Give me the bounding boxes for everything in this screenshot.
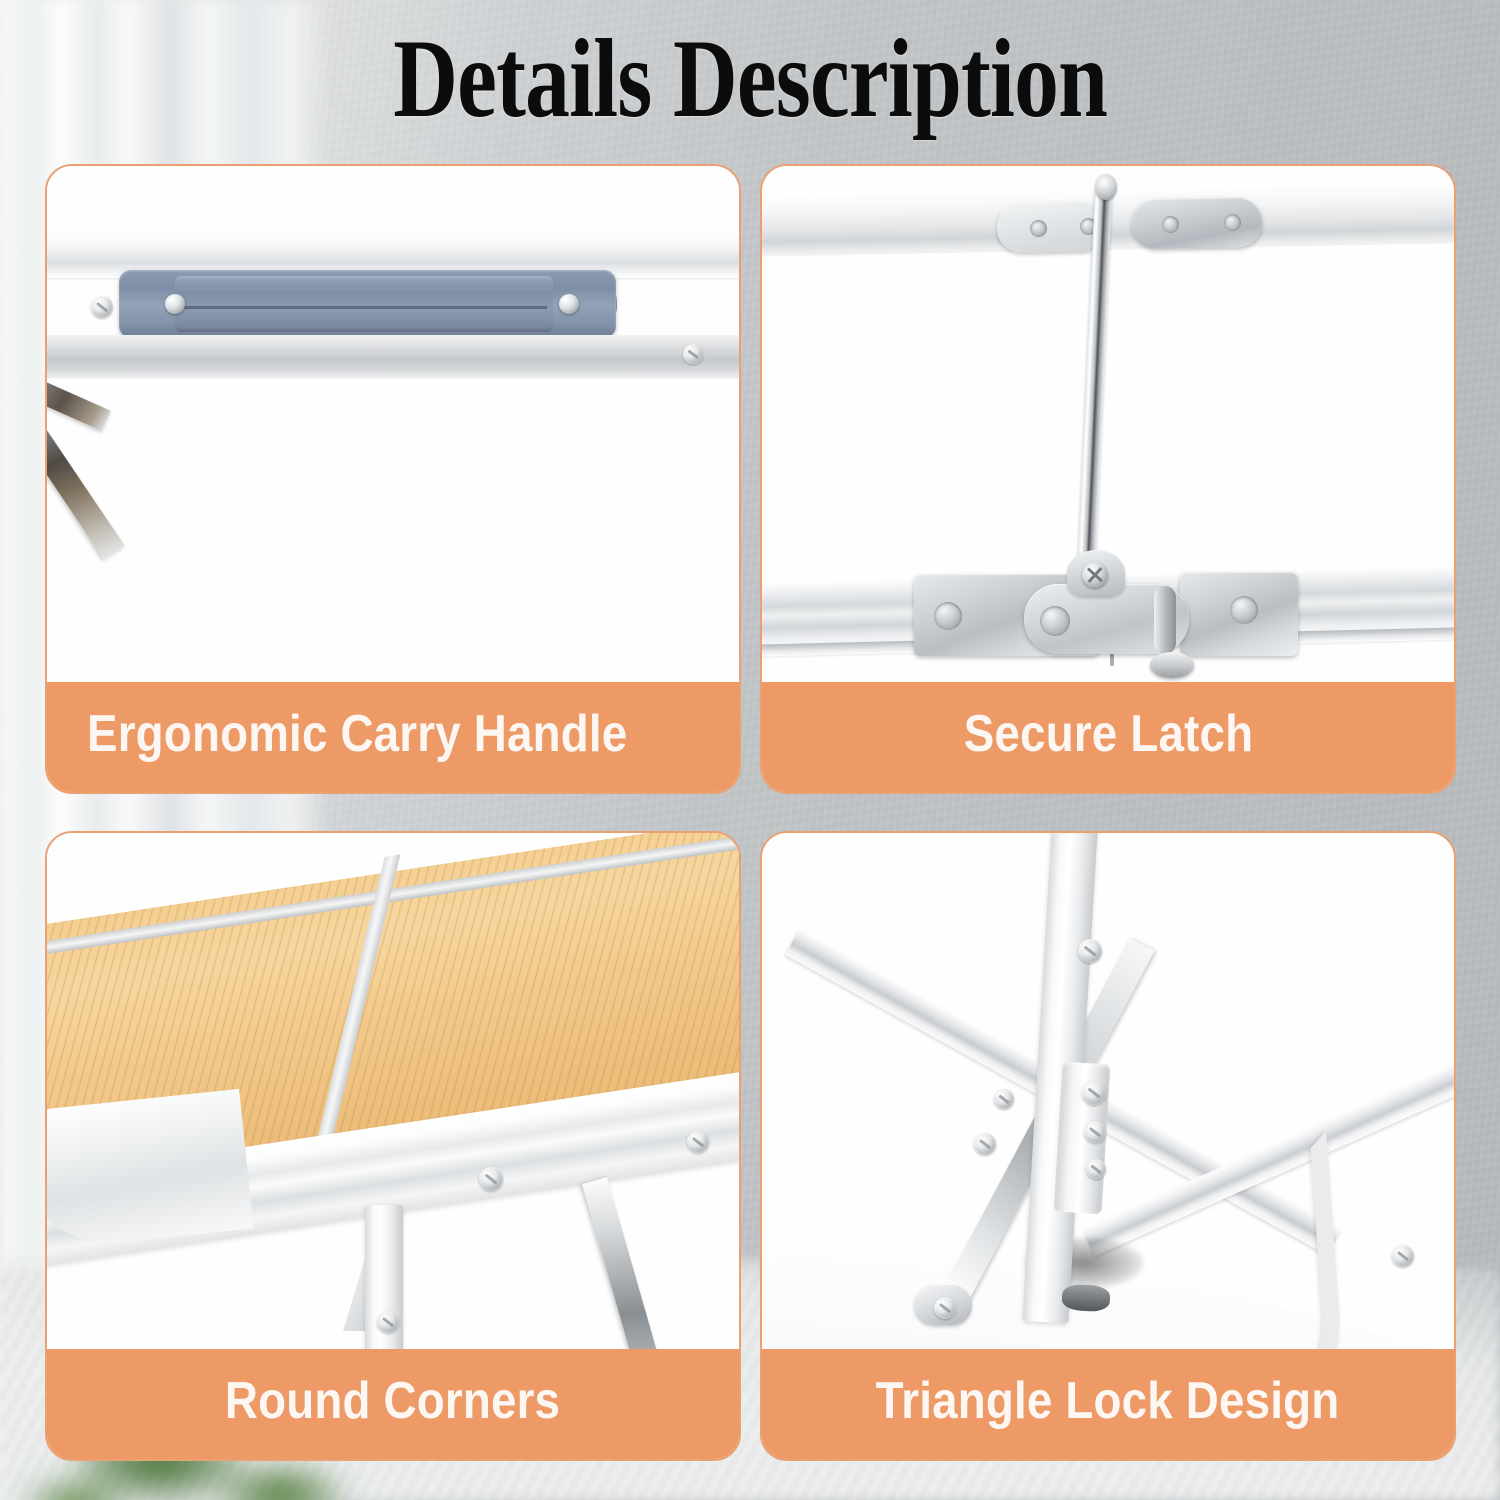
latch-pivot-screw [1082,562,1108,588]
screw-sleeve-mid [1084,1121,1106,1143]
feature-card-secure-latch[interactable]: Secure Latch [760,164,1456,794]
aluminium-rail-bottom [47,335,739,377]
feature-caption-text: Round Corners [225,1371,560,1431]
screw-edge-left [479,1167,503,1191]
plate-hole-4 [1224,214,1241,231]
feature-card-triangle-lock[interactable]: Triangle Lock Design [760,831,1456,1461]
feature-card-grid: Ergonomic Carry Handle [45,164,1456,1461]
screw-brace-foot [934,1297,956,1319]
feature-card-round-corners[interactable]: Round Corners [45,831,741,1461]
handle-rivet-right [559,294,579,314]
feature-caption-secure-latch: Secure Latch [762,682,1454,792]
plate-hole-1 [1030,220,1047,237]
feature-caption-text: Secure Latch [963,704,1253,764]
feature-caption-text: Triangle Lock Design [876,1371,1340,1431]
folding-brace [582,1177,690,1349]
feature-card-carry-handle[interactable]: Ergonomic Carry Handle [45,164,741,794]
page-title-text: Details Description [393,24,1107,134]
screw-brace-pivot [974,1133,996,1155]
product-photo-secure-latch [762,166,1454,682]
product-photo-round-corners [47,833,739,1349]
screw-brace-upper [994,1089,1014,1109]
rounded-corner [47,1089,254,1253]
latch-hole-center [1040,606,1070,636]
curved-leg-tube [1177,1130,1350,1349]
plate-hole-3 [1162,216,1179,233]
screw-edge-right [687,1131,709,1153]
latch-stud [1154,586,1176,654]
latch-hole-right [1230,596,1258,624]
screw-sleeve-top [1082,1081,1106,1105]
carry-handle-grip [175,276,553,332]
screw-rail-right [683,344,703,364]
leg-height-pin-upper [377,1311,399,1333]
screw-leg-top [1078,939,1102,963]
screw-rail-left [91,296,113,318]
latch-hole-left [934,602,962,630]
latch-release-nub [1150,652,1194,678]
handle-rivet-left [165,294,185,314]
screw-frame-right [1392,1245,1414,1267]
feature-caption-round-corners: Round Corners [47,1349,739,1459]
product-photo-carry-handle [47,166,739,682]
screw-sleeve-low [1086,1159,1106,1179]
product-photo-triangle-lock [762,833,1454,1349]
latch-rod-eyelet [1095,174,1117,200]
carry-handle-groove [181,306,547,309]
feature-caption-triangle-lock: Triangle Lock Design [762,1349,1454,1459]
feature-caption-text: Ergonomic Carry Handle [87,704,627,764]
leg-foot-cap [1061,1284,1110,1312]
page-title: Details Description [0,24,1500,134]
latch-top-plate-right [1132,197,1263,249]
feature-caption-carry-handle: Ergonomic Carry Handle [47,682,739,792]
